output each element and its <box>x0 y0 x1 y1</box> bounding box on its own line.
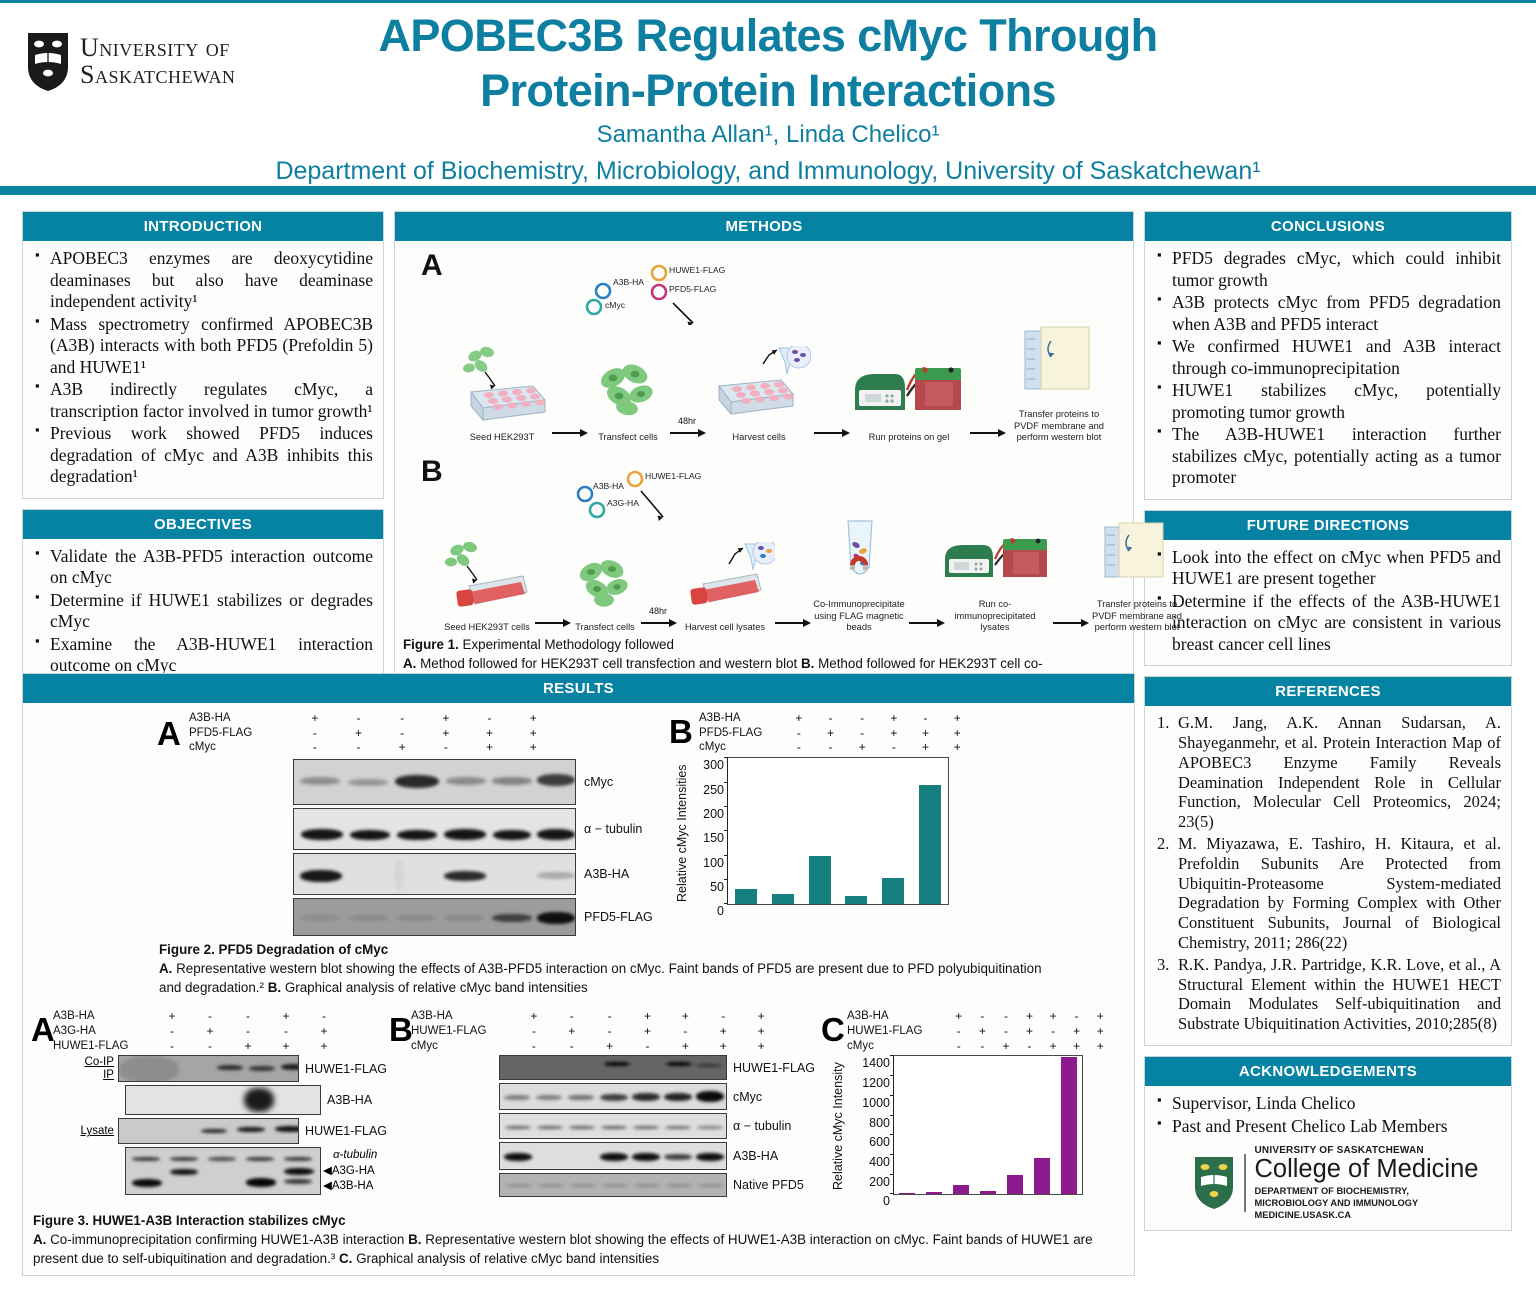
sign: + <box>515 1009 553 1024</box>
sign: + <box>994 1039 1018 1054</box>
conclusions-list: PFD5 degrades cMyc, which could inhibit … <box>1155 248 1501 489</box>
y-axis-tick: 0 <box>883 1194 894 1208</box>
usask-wordmark-line2: Saskatchewan <box>80 62 235 89</box>
college-logo-line3: DEPARTMENT OF BIOCHEMISTRY, MICROBIOLOGY… <box>1255 1185 1479 1221</box>
list-item: APOBEC3 enzymes are deoxycytidine deamin… <box>33 248 373 313</box>
blot-row: Native PFD5 <box>499 1173 817 1197</box>
sign: + <box>742 1024 780 1039</box>
future-directions-panel: FUTURE DIRECTIONS Look into the effect o… <box>1144 510 1512 667</box>
objectives-list: Validate the A3B-PFD5 interaction outcom… <box>33 546 373 677</box>
blot-row: Co-IP IP HUWE1-FLAG <box>29 1055 387 1082</box>
side-label: Co-IP <box>29 1056 114 1069</box>
condition-label: cMyc <box>699 740 783 755</box>
list-item: Determine if the effects of the A3B-HUWE… <box>1155 591 1501 656</box>
condition-label: HUWE1-FLAG <box>53 1039 153 1054</box>
sign: - <box>380 726 424 741</box>
y-axis-tickmark <box>724 855 728 856</box>
y-axis-tick: 300 <box>703 758 728 772</box>
sign: + <box>947 1009 971 1024</box>
references-heading: REFERENCES <box>1145 677 1511 706</box>
future-directions-body: Look into the effect on cMyc when PFD5 a… <box>1145 540 1511 666</box>
condition-signs: + - - + - + <box>293 711 555 726</box>
flow-caption: Transfect cells <box>589 432 667 444</box>
list-item: G.M. Jang, A.K. Annan Sudarsan, A. Shaye… <box>1155 713 1501 832</box>
cell-culture-plate-icon <box>455 346 549 424</box>
sign: + <box>591 1039 629 1054</box>
list-item: A3B indirectly regulates cMyc, a transcr… <box>33 379 373 422</box>
figure3a: A A3B-HA + - - + - <box>29 1009 387 1195</box>
sign: - <box>468 711 512 726</box>
condition-row: HUWE1-FLAG - - + + + <box>53 1039 387 1054</box>
harvest-cells-icon <box>707 346 811 424</box>
transfected-cells-icon <box>569 542 641 614</box>
figure3-caption-a-text: Co-immunoprecipitation confirming HUWE1-… <box>46 1232 408 1247</box>
sign: + <box>629 1009 667 1024</box>
sign: - <box>380 711 424 726</box>
sign: - <box>229 1024 267 1039</box>
sign: + <box>305 1039 343 1054</box>
figure2-caption-title: Figure 2. PFD5 Degradation of cMyc <box>159 942 388 957</box>
sign: - <box>783 726 815 741</box>
blot-strip-coip-a3b <box>125 1085 321 1115</box>
y-axis-tickmark <box>890 1154 894 1155</box>
condition-signs: - + - + + + <box>293 726 555 741</box>
sign: + <box>267 1039 305 1054</box>
sign: - <box>846 711 878 726</box>
blot-label: HUWE1-FLAG <box>305 1062 387 1076</box>
plasmid-label-huwe1: HUWE1-FLAG <box>669 265 725 275</box>
flow-arrow-time-label: 48hr <box>649 606 667 616</box>
condition-row: A3G-HA - + - - + <box>53 1024 387 1039</box>
y-axis-tickmark <box>724 782 728 783</box>
y-axis-tick: 600 <box>869 1135 894 1149</box>
condition-signs: + - - + - + <box>783 711 973 726</box>
objectives-panel: OBJECTIVES Validate the A3B-PFD5 interac… <box>22 509 384 688</box>
list-item: Determine if HUWE1 stabilizes or degrade… <box>33 590 373 633</box>
y-axis-tick: 200 <box>703 807 728 821</box>
condition-label: cMyc <box>189 740 293 755</box>
flow-caption: Seed HEK293T <box>455 432 549 444</box>
figure3-caption-title: Figure 3. HUWE1-A3B Interaction stabiliz… <box>33 1213 346 1228</box>
blot-strip-b-huwe1 <box>499 1055 727 1080</box>
sign: + <box>553 1024 591 1039</box>
sign: + <box>941 740 973 755</box>
flow-caption: Co-Immunoprecipitate using FLAG magnetic… <box>809 599 909 634</box>
figure3b: B A3B-HA + - - + + - + <box>387 1009 817 1197</box>
sign: - <box>846 726 878 741</box>
bar <box>980 1191 996 1194</box>
list-item: Look into the effect on cMyc when PFD5 a… <box>1155 547 1501 590</box>
y-axis-tickmark <box>890 1095 894 1096</box>
y-axis-tickmark <box>890 1174 894 1175</box>
sign: - <box>947 1039 971 1054</box>
figure2b: B A3B-HA + - - + - + <box>669 711 999 917</box>
list-item: We confirmed HUWE1 and A3B interact thro… <box>1155 336 1501 379</box>
electrophoresis-rig-icon <box>851 346 967 424</box>
sign: + <box>191 1024 229 1039</box>
sign: + <box>941 711 973 726</box>
chart-ylabel: Relative cMyc Intensities <box>675 757 691 909</box>
sign: - <box>305 1009 343 1024</box>
blot-label: HUWE1-FLAG <box>305 1124 387 1138</box>
arrow-label: A3B-HA <box>332 1180 374 1192</box>
blot-strip-coip-huwe1 <box>118 1055 299 1082</box>
figure2a-letter: A <box>157 715 181 753</box>
introduction-list: APOBEC3 enzymes are deoxycytidine deamin… <box>33 248 373 488</box>
sign: + <box>1041 1009 1065 1024</box>
condition-row: A3B-HA + - - + + - + <box>411 1009 817 1024</box>
blot-label: HUWE1-FLAG <box>733 1061 815 1075</box>
figure3-row: A A3B-HA + - - + - <box>29 1009 1128 1205</box>
y-axis-tick: 1200 <box>862 1076 894 1090</box>
sign: + <box>424 711 468 726</box>
sign: + <box>910 740 942 755</box>
flow-arrow <box>1053 606 1087 634</box>
college-logo-text: UNIVERSITY OF SASKATCHEWAN College of Me… <box>1255 1145 1479 1221</box>
condition-label: PFD5-FLAG <box>699 726 783 741</box>
transfected-cells-icon <box>589 346 667 424</box>
sign: + <box>704 1024 742 1039</box>
figure3c-condition-matrix: A3B-HA + - - + + - + <box>847 1009 1127 1053</box>
sign: + <box>1088 1009 1112 1024</box>
blot-strip-lysate-huwe1 <box>118 1118 299 1144</box>
y-axis-tick: 800 <box>869 1116 894 1130</box>
blot-strip-b-cmyc <box>499 1083 727 1110</box>
y-axis-tickmark <box>890 1055 894 1056</box>
sign: + <box>424 726 468 741</box>
blot-label: α − tubulin <box>584 822 642 836</box>
sign: - <box>815 740 847 755</box>
condition-row: cMyc - - + - + + <box>189 740 669 755</box>
figure2-row: A A3B-HA + - - + - + <box>29 711 1128 936</box>
blot-label: Native PFD5 <box>733 1178 804 1192</box>
figure3c: C A3B-HA + - - + + - + <box>817 1009 1127 1205</box>
sign: + <box>704 1039 742 1054</box>
condition-label: cMyc <box>847 1039 947 1054</box>
bar <box>953 1185 969 1195</box>
blot-row: α − tubulin <box>293 808 669 850</box>
condition-label: A3B-HA <box>847 1009 947 1024</box>
condition-row: A3B-HA + - - + - + <box>699 711 999 726</box>
future-directions-heading: FUTURE DIRECTIONS <box>1145 511 1511 540</box>
figure3a-letter: A <box>31 1011 55 1049</box>
condition-row: HUWE1-FLAG - + - + - + + <box>847 1024 1127 1039</box>
blot-label: PFD5-FLAG <box>584 910 653 924</box>
condition-signs: - + - + - + + <box>515 1024 780 1039</box>
sign: + <box>666 1039 704 1054</box>
list-item: Mass spectrometry confirmed APOBEC3B (A3… <box>33 314 373 379</box>
figure3-caption: Figure 3. HUWE1-A3B Interaction stabiliz… <box>33 1211 1128 1268</box>
condition-label: cMyc <box>411 1039 515 1054</box>
blot-side-label-lysate: Lysate <box>29 1125 118 1137</box>
blot-label: A3B-HA <box>327 1093 372 1107</box>
sign: + <box>511 711 555 726</box>
culture-flask-icon <box>439 542 535 614</box>
blot-side-label-coip: Co-IP IP <box>29 1056 118 1082</box>
flow-caption: Harvest cell lysates <box>675 622 775 634</box>
blot-row: A3B-HA <box>29 1085 387 1115</box>
flow-step-seed-b: Seed HEK293T cells <box>439 542 535 634</box>
flow-caption: Harvest cells <box>707 432 811 444</box>
bar <box>845 896 867 904</box>
bar <box>735 889 757 905</box>
poster-header: University of Saskatchewan APOBEC3B Regu… <box>0 0 1536 195</box>
figure2b-condition-matrix: A3B-HA + - - + - + PFD5-FLAG <box>699 711 999 755</box>
sign: - <box>591 1009 629 1024</box>
blot-strip-b-a3b <box>499 1142 727 1170</box>
condition-row: cMyc - - + - + + <box>699 740 999 755</box>
blot-label: A3B-HA <box>733 1149 778 1163</box>
sign: - <box>191 1039 229 1054</box>
sign: - <box>153 1039 191 1054</box>
condition-label: PFD5-FLAG <box>189 726 293 741</box>
blot-label: A3B-HA <box>584 867 629 881</box>
plasmid-label-pfd5: PFD5-FLAG <box>669 284 716 294</box>
condition-label: A3B-HA <box>189 711 293 726</box>
condition-signs: - + - - + <box>153 1024 343 1039</box>
condition-row: cMyc - - + - + + + <box>847 1039 1127 1054</box>
figure3b-condition-matrix: A3B-HA + - - + + - + <box>411 1009 817 1053</box>
references-body: G.M. Jang, A.K. Annan Sudarsan, A. Shaye… <box>1145 706 1511 1045</box>
methods-flow-a: A <box>403 247 1125 447</box>
figure3b-letter: B <box>389 1011 413 1049</box>
blot-strip-a3b <box>293 853 576 895</box>
condition-label: A3B-HA <box>411 1009 515 1024</box>
blot-row: α-tubulin ◀A3G-HA ◀A3B-HA <box>29 1147 387 1195</box>
blot-arrow-annotation: ◀A3B-HA <box>323 1179 377 1195</box>
y-axis-tick: 50 <box>710 880 728 894</box>
condition-signs: + - - + + - + <box>515 1009 780 1024</box>
figure-3c-chart: Relative cMyc Intensity 0200400600800100… <box>831 1055 1127 1205</box>
figure2b-letter: B <box>669 713 693 751</box>
blot-strip-tubulin <box>293 808 576 850</box>
sign: + <box>1088 1039 1112 1054</box>
flow-step-transfer-a: Transfer proteins to PVDF membrane and p… <box>1007 323 1111 444</box>
condition-signs: - - + - + + <box>783 740 973 755</box>
bar <box>809 856 831 905</box>
blot-row: A3B-HA <box>499 1142 817 1170</box>
methods-flow-b: B HUWE1-FLAG <box>403 453 1125 633</box>
sign: - <box>553 1009 591 1024</box>
sign: + <box>1041 1039 1065 1054</box>
poster-department: Department of Biochemistry, Microbiology… <box>0 157 1536 186</box>
bar <box>772 894 794 904</box>
condition-signs: - + - + - + + <box>947 1024 1112 1039</box>
figure1-caption-b-label: B. <box>801 656 814 671</box>
figure1-caption-a-label: A. <box>403 656 416 671</box>
bar <box>1007 1175 1023 1194</box>
sign: + <box>511 726 555 741</box>
flow-step-seed-a: Seed HEK293T <box>455 346 549 444</box>
flow-step-rungel-b: Run co-immunoprecipitated lysates <box>943 519 1053 634</box>
plasmid-label-a3b: A3B-HA <box>613 277 644 287</box>
methods-panel: METHODS A <box>394 211 1134 701</box>
sign: - <box>153 1024 191 1039</box>
plasmid-cluster-a: HUWE1-FLAG PFD5-FLAG A3B-HA cMyc <box>581 263 771 325</box>
condition-row: A3B-HA + - - + - + <box>189 711 669 726</box>
condition-signs: - - + - + + <box>293 740 555 755</box>
sign: - <box>515 1039 553 1054</box>
sign: - <box>947 1024 971 1039</box>
condition-signs: - + - + + + <box>783 726 973 741</box>
flow-step-harvest-a: Harvest cells <box>707 346 811 444</box>
condition-row: cMyc - - + - + + + <box>411 1039 817 1054</box>
plasmid-cluster-b: HUWE1-FLAG A3B-HA A3G-HA <box>563 469 743 525</box>
flow-caption: Run proteins on gel <box>851 432 967 444</box>
sign: + <box>468 726 512 741</box>
sign: + <box>1065 1024 1089 1039</box>
blot-label: α − tubulin <box>733 1119 791 1133</box>
list-item: Past and Present Chelico Lab Members <box>1155 1116 1501 1138</box>
sign: + <box>629 1024 667 1039</box>
acknowledgements-panel: ACKNOWLEDGEMENTS Supervisor, Linda Cheli… <box>1144 1056 1512 1231</box>
figure2a-blots: cMyc α − tubuli <box>293 759 669 936</box>
sign: - <box>815 711 847 726</box>
sign: - <box>994 1024 1018 1039</box>
acknowledgements-list: Supervisor, Linda Chelico Past and Prese… <box>1155 1093 1501 1137</box>
college-of-medicine-logo: UNIVERSITY OF SASKATCHEWAN College of Me… <box>1155 1145 1501 1221</box>
blot-strip-pfd5 <box>293 898 576 936</box>
y-axis-tick: 100 <box>703 856 728 870</box>
side-label: Lysate <box>80 1125 113 1137</box>
list-item: M. Miyazawa, E. Tashiro, H. Kitaura, et … <box>1155 834 1501 953</box>
sign: + <box>742 1039 780 1054</box>
sign: + <box>910 726 942 741</box>
sign: - <box>971 1039 995 1054</box>
y-axis-tickmark <box>724 757 728 758</box>
plasmid-label-a3b: A3B-HA <box>593 481 624 491</box>
introduction-panel: INTRODUCTION APOBEC3 enzymes are deoxycy… <box>22 211 384 499</box>
list-item: Validate the A3B-PFD5 interaction outcom… <box>33 546 373 589</box>
objectives-heading: OBJECTIVES <box>23 510 383 539</box>
usask-shield-icon <box>26 31 70 93</box>
flow-caption: Seed HEK293T cells <box>439 622 535 634</box>
condition-row: PFD5-FLAG - + - + + + <box>189 726 669 741</box>
flow-step-harvest-b: Harvest cell lysates <box>675 542 775 634</box>
harvest-lysate-icon <box>675 542 775 614</box>
blot-row: α − tubulin <box>499 1113 817 1139</box>
results-panel: RESULTS A A3B-HA + - - <box>22 673 1135 1276</box>
sign: - <box>191 1009 229 1024</box>
bar <box>1061 1057 1077 1194</box>
flow-arrow <box>967 416 1007 444</box>
y-axis-tickmark <box>890 1193 894 1194</box>
y-axis-tick: 200 <box>869 1175 894 1189</box>
condition-label: A3B-HA <box>53 1009 153 1024</box>
usask-wordmark: University of Saskatchewan <box>80 35 235 88</box>
blot-row: cMyc <box>293 759 669 805</box>
flow-arrow-48hr: 48hr <box>667 416 707 444</box>
figure3-caption-c-label: C. <box>339 1251 352 1266</box>
flow-step-rungel-a: Run proteins on gel <box>851 346 967 444</box>
list-item: HUWE1 stabilizes cMyc, potentially promo… <box>1155 380 1501 423</box>
methods-panel-b-letter: B <box>421 455 443 489</box>
figure1-caption-a-text: Method followed for HEK293T cell transfe… <box>416 656 801 671</box>
blot-label: cMyc <box>584 775 613 789</box>
conclusions-panel: CONCLUSIONS PFD5 degrades cMyc, which co… <box>1144 211 1512 500</box>
flow-step-transfect-a: Transfect cells <box>589 346 667 444</box>
sign: - <box>994 1009 1018 1024</box>
figure2a-condition-matrix: A3B-HA + - - + - + PFD5-FLAG <box>189 711 669 755</box>
blot-row: A3B-HA <box>293 853 669 895</box>
bar <box>882 878 904 904</box>
list-item: A3B protects cMyc from PFD5 degradation … <box>1155 292 1501 335</box>
plasmid-label-huwe1: HUWE1-FLAG <box>645 471 701 481</box>
sign: - <box>1018 1039 1042 1054</box>
sign: - <box>878 740 910 755</box>
blot-label: α-tubulin <box>323 1148 377 1164</box>
bar <box>899 1193 915 1195</box>
condition-signs: + - - + + - + <box>947 1009 1112 1024</box>
flow-caption: Run co-immunoprecipitated lysates <box>943 599 1047 634</box>
figure3-caption-c-text: Graphical analysis of relative cMyc band… <box>352 1251 659 1266</box>
flow-arrow <box>549 416 589 444</box>
methods-panel-a-letter: A <box>421 249 443 283</box>
sign: + <box>846 740 878 755</box>
middle-column: METHODS A <box>394 211 1134 711</box>
sign: - <box>267 1024 305 1039</box>
figure-2b-plot-area: 050100150200250300 <box>727 757 949 905</box>
figure3-caption-b-label: B. <box>408 1232 421 1247</box>
sign: - <box>1065 1009 1089 1024</box>
flow-step-transfect-b: Transfect cells <box>569 542 641 634</box>
flow-step-coip-b: Co-Immunoprecipitate using FLAG magnetic… <box>809 519 909 634</box>
figure3c-letter: C <box>821 1011 845 1049</box>
blot-row: HUWE1-FLAG <box>499 1055 817 1080</box>
acknowledgements-body: Supervisor, Linda Chelico Past and Prese… <box>1145 1086 1511 1230</box>
sign: - <box>337 740 381 755</box>
plasmid-label-a3g: A3G-HA <box>607 498 639 508</box>
sign: + <box>666 1009 704 1024</box>
sign: + <box>971 1024 995 1039</box>
figure3a-condition-matrix: A3B-HA + - - + - A3G-HA <box>53 1009 387 1053</box>
sign: - <box>971 1009 995 1024</box>
flow-arrow <box>909 606 943 634</box>
sign: - <box>229 1009 267 1024</box>
bar <box>1034 1158 1050 1194</box>
introduction-heading: INTRODUCTION <box>23 212 383 241</box>
blot-strip-b-tubulin <box>499 1113 727 1139</box>
logo-divider <box>1244 1154 1246 1212</box>
y-axis-tick: 400 <box>869 1155 894 1169</box>
results-body: A A3B-HA + - - + - + <box>23 703 1134 1275</box>
sign: - <box>293 740 337 755</box>
figure2-caption: Figure 2. PFD5 Degradation of cMyc A. Re… <box>159 940 1059 997</box>
university-of-saskatchewan-logo: University of Saskatchewan <box>26 31 235 93</box>
list-item: Examine the A3B-HUWE1 interaction outcom… <box>33 634 373 677</box>
blot-row: Lysate HUWE1-FLAG <box>29 1118 387 1144</box>
blot-side-annotations: α-tubulin ◀A3G-HA ◀A3B-HA <box>323 1148 377 1195</box>
sign: + <box>1018 1009 1042 1024</box>
condition-label: A3G-HA <box>53 1024 153 1039</box>
sign: + <box>511 740 555 755</box>
figure1-caption-title: Figure 1. <box>403 637 459 652</box>
usask-wordmark-line1: University of <box>80 35 235 62</box>
y-axis-tick: 0 <box>717 904 728 918</box>
bar <box>926 1192 942 1194</box>
condition-label: A3B-HA <box>699 711 783 726</box>
poster-body: INTRODUCTION APOBEC3 enzymes are deoxycy… <box>0 195 1536 1247</box>
flow-arrow <box>811 416 851 444</box>
sign: + <box>1088 1024 1112 1039</box>
sign: + <box>229 1039 267 1054</box>
condition-signs: - - + + + <box>153 1039 343 1054</box>
sign: + <box>878 726 910 741</box>
magnetic-beads-tube-icon <box>828 519 890 591</box>
sign: + <box>305 1024 343 1039</box>
y-axis-tick: 150 <box>703 831 728 845</box>
future-directions-list: Look into the effect on cMyc when PFD5 a… <box>1155 547 1501 656</box>
